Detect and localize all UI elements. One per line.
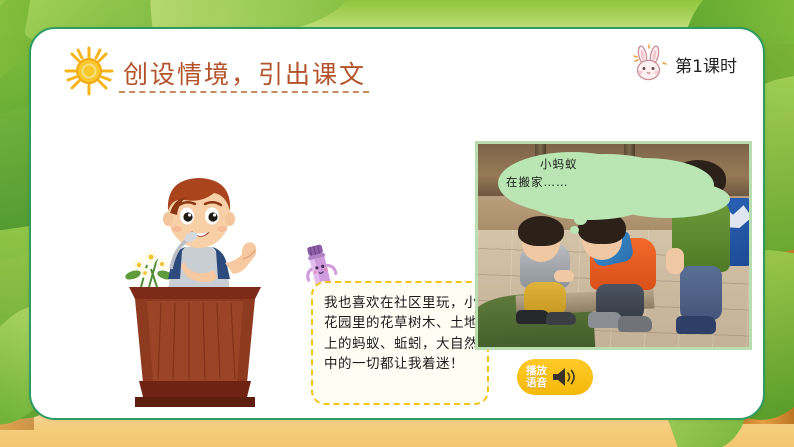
quote-text: 我也喜欢在社区里玩，小花园里的花草树木、土地上的蚂蚁、蚯蚓，大自然中的一切都让我… [324,293,478,374]
slide-root: 创设情境，引出课文 [0,0,794,447]
thought-bubble-text: 小蚂蚁 在搬家…… [506,156,638,192]
speaker-icon [550,365,576,389]
content-card: 创设情境，引出课文 [29,27,765,420]
sun-icon [63,45,115,97]
play-audio-label: 播放 语音 [526,365,547,389]
flower-decoration [124,251,174,288]
classroom-photo: 小蚂蚁 在搬家…… [475,141,752,350]
rabbit-icon [629,43,669,85]
page-title: 创设情境，引出课文 [123,55,366,91]
thought-bubble-tail [574,214,587,225]
play-audio-line2: 语音 [526,377,547,389]
cartoon-boy-at-podium [113,169,293,409]
play-audio-button[interactable]: 播放 语音 [517,359,593,395]
quote-textbox: 我也喜欢在社区里玩，小花园里的花草树木、土地上的蚂蚁、蚯蚓，大自然中的一切都让我… [311,281,489,405]
child-figure-middle [566,212,662,340]
play-audio-line1: 播放 [526,365,547,377]
thought-bubble-line2: 在搬家…… [506,174,638,192]
lesson-label: 第1课时 [675,52,737,77]
thought-bubble-tail [570,226,579,234]
lesson-badge: 第1课时 [629,43,737,85]
child-figure-right [654,164,752,344]
title-underline [119,91,369,93]
thought-bubble-line1: 小蚂蚁 [506,156,638,174]
